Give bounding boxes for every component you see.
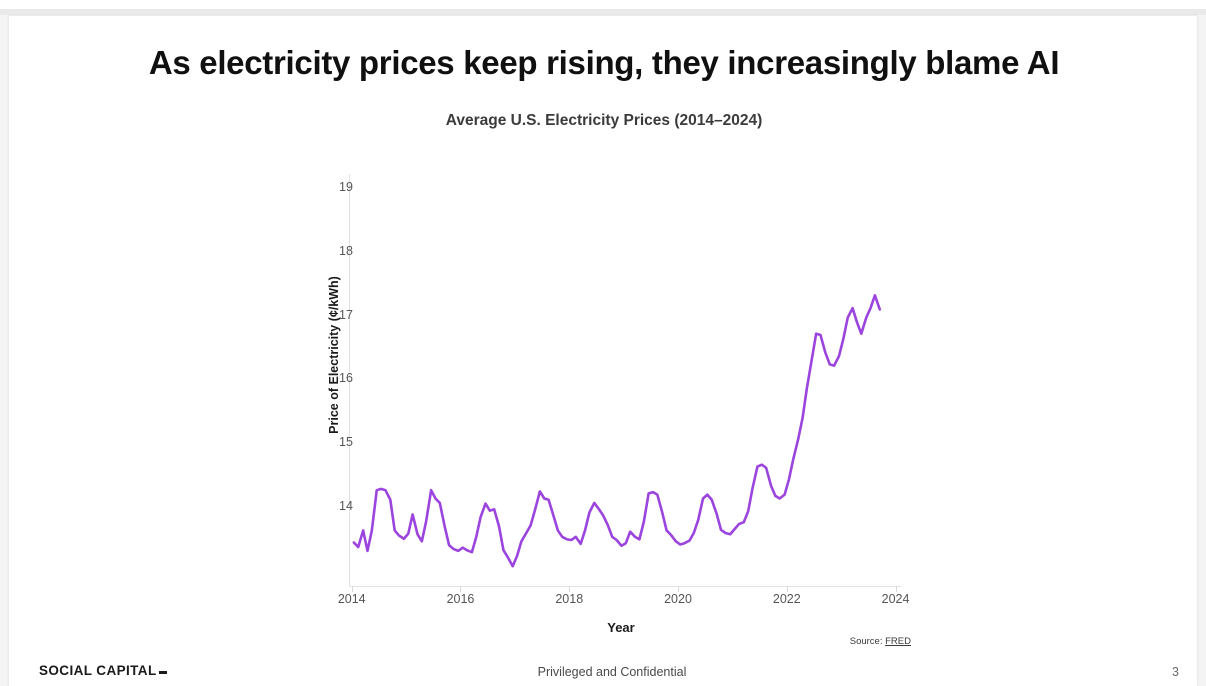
page-title: As electricity prices keep rising, they …	[9, 44, 1199, 82]
slide-footer: SOCIAL CAPITAL Privileged and Confidenti…	[17, 653, 1206, 686]
source-prefix: Source:	[850, 636, 883, 647]
x-axis-label: Year	[341, 620, 901, 635]
viewer-top-strip	[0, 0, 1206, 10]
series-path	[354, 295, 880, 566]
slide-viewer: As electricity prices keep rising, they …	[0, 0, 1206, 686]
source-note: Source: FRED	[751, 636, 911, 647]
plot-area: 141516171819 201420162018202020222024	[341, 168, 901, 663]
slide-surface: As electricity prices keep rising, they …	[8, 15, 1198, 686]
page-number: 3	[1172, 665, 1179, 679]
line-series	[341, 168, 901, 598]
confidentiality-notice: Privileged and Confidential	[17, 665, 1206, 679]
chart-container: Average U.S. Electricity Prices (2014–20…	[9, 98, 1199, 638]
source-link[interactable]: FRED	[885, 636, 911, 647]
chart-title: Average U.S. Electricity Prices (2014–20…	[9, 112, 1199, 130]
y-axis-label: Price of Electricity (¢/kWh)	[327, 276, 341, 434]
